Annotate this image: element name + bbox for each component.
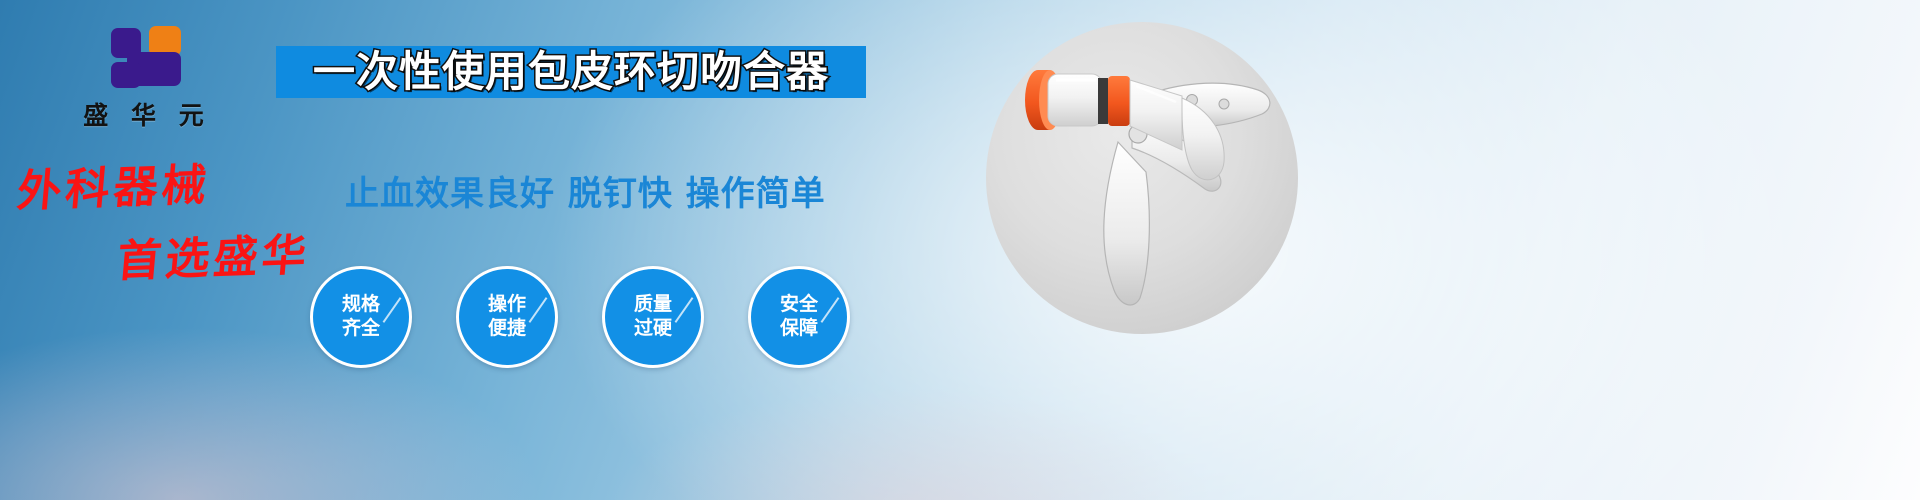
badge-slash-decoration [675, 297, 694, 323]
badge-slash-decoration [821, 297, 840, 323]
feature-badge-line-1: 质量 [634, 293, 672, 317]
feature-badge[interactable]: 质量 过硬 [602, 266, 704, 368]
calligraphy-slogan: 外科器械 首选盛华 [18, 152, 348, 286]
badge-slash-decoration [529, 297, 548, 323]
feature-badge-line-2: 便捷 [488, 317, 526, 341]
stapler-illustration [986, 22, 1298, 334]
subtitle-text: 止血效果良好 脱钉快 操作简单 [345, 166, 826, 215]
headline-bar: 一次性使用包皮环切吻合器 [276, 46, 866, 98]
feature-badge-line-2: 过硬 [634, 317, 672, 341]
brand-logo-block[interactable]: 盛 华 元 [62, 26, 232, 132]
feature-badge[interactable]: 操作 便捷 [456, 266, 558, 368]
calligraphy-line-2: 首选盛华 [115, 219, 313, 290]
feature-badge[interactable]: 安全 保障 [748, 266, 850, 368]
badge-slash-decoration [383, 297, 402, 323]
feature-badge[interactable]: 规格 齐全 [310, 266, 412, 368]
feature-badge-list: 规格 齐全 操作 便捷 质量 过硬 安全 保障 [310, 266, 850, 368]
feature-badge-line-1: 规格 [342, 293, 380, 317]
product-image[interactable] [986, 22, 1298, 334]
feature-badge-line-2: 齐全 [342, 317, 380, 341]
feature-badge-line-2: 保障 [780, 317, 818, 341]
promo-banner: 盛 华 元 一次性使用包皮环切吻合器 外科器械 首选盛华 止血效果良好 脱钉快 … [0, 0, 1920, 500]
feature-badge-line-1: 操作 [488, 293, 526, 317]
calligraphy-line-1: 外科器械 [15, 149, 213, 220]
feature-badge-line-1: 安全 [780, 293, 818, 317]
company-name: 盛 华 元 [62, 96, 232, 132]
logo-block-bottom-left [111, 62, 141, 88]
page-title: 一次性使用包皮环切吻合器 [313, 51, 829, 93]
shenghuayuan-blocks-logo-icon [111, 26, 183, 90]
